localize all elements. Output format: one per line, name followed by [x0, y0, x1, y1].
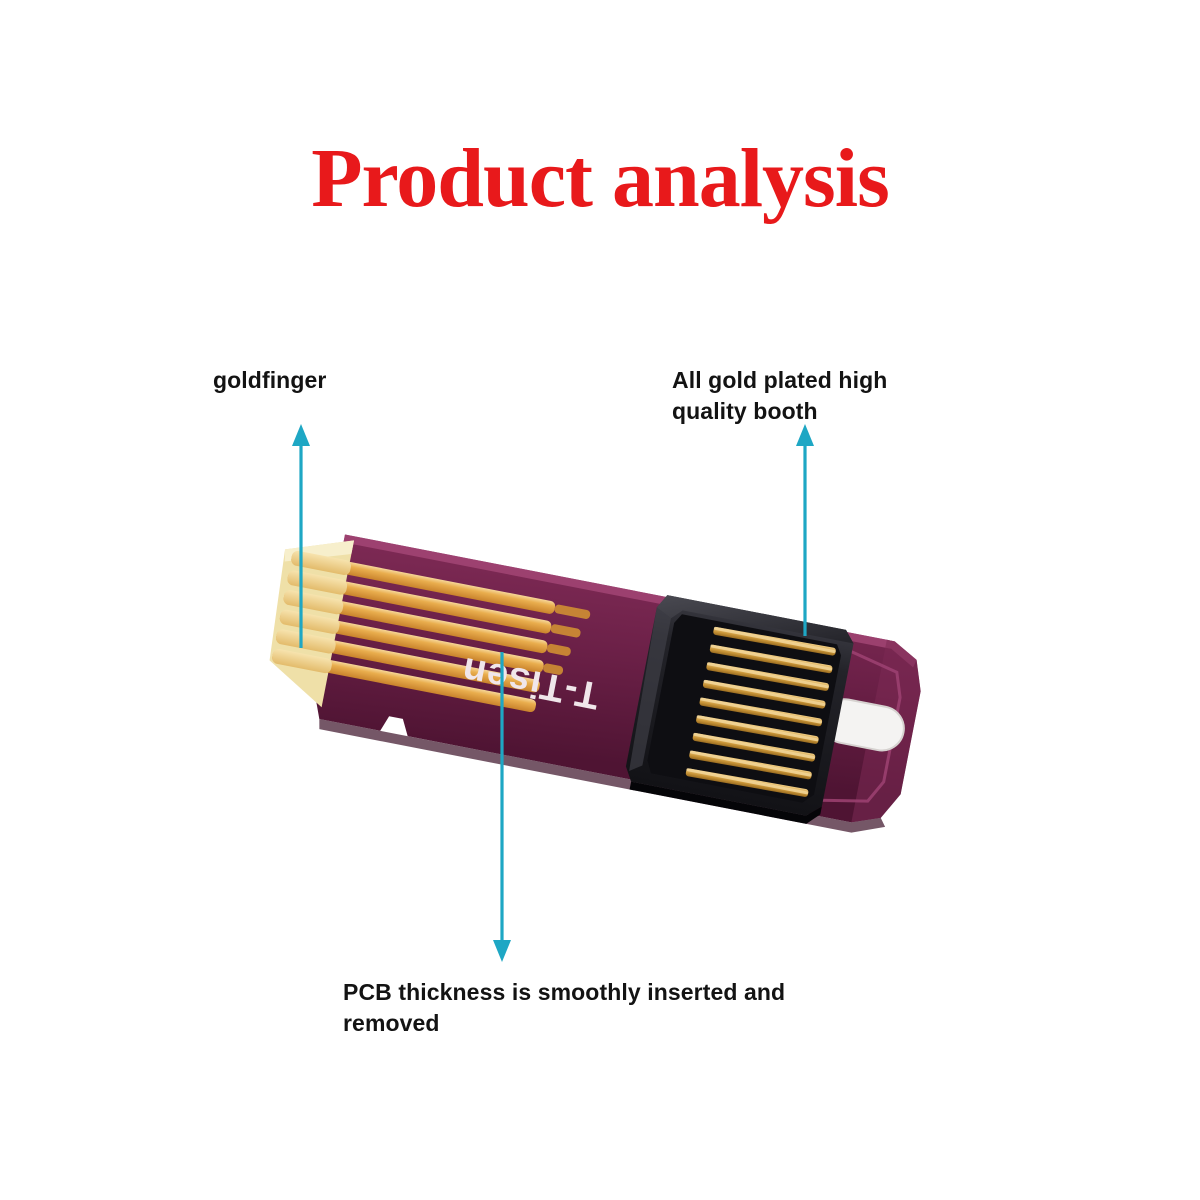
annotation-label-pcb: PCB thickness is smoothly inserted and r… [343, 977, 873, 1039]
annotation-label-goldfinger: goldfinger [213, 365, 326, 396]
annotation-label-booth: All gold plated high quality booth [672, 365, 942, 427]
product-analysis-infographic: Product analysis [0, 0, 1200, 1200]
